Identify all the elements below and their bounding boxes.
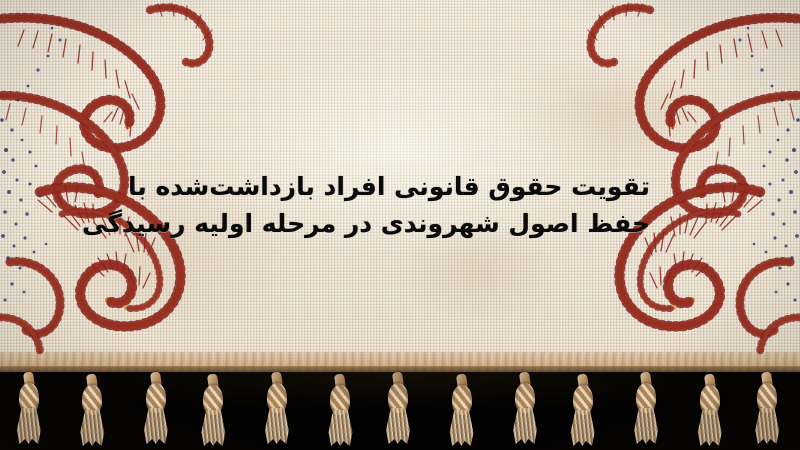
tassel-skirt — [449, 410, 475, 446]
tassel-skirt — [633, 408, 659, 444]
headline-line-1: تقویت حقوق قانونی افراد بازداشت‌شده با — [150, 168, 650, 205]
tassel-skirt — [754, 408, 780, 444]
tassel — [196, 374, 230, 448]
tassel — [508, 372, 542, 446]
headline-text: تقویت حقوق قانونی افراد بازداشت‌شده با ح… — [0, 168, 800, 242]
tassel-skirt — [327, 410, 353, 446]
tassel — [323, 374, 357, 448]
tassel — [75, 374, 109, 448]
tassel-skirt — [697, 410, 723, 446]
tassel-skirt — [570, 410, 596, 446]
tassel — [445, 374, 479, 448]
tassel-skirt — [79, 410, 105, 446]
tassel — [12, 372, 46, 446]
tassel — [260, 372, 294, 446]
tassel — [139, 372, 173, 446]
tassel — [693, 374, 727, 448]
tassel-skirt — [264, 408, 290, 444]
tassel-fringe-band — [0, 372, 800, 450]
headline-line-2: حفظ اصول شهروندی در مرحله اولیه رسیدگی — [150, 205, 650, 242]
tassel-skirt — [385, 408, 411, 444]
tassel — [566, 374, 600, 448]
tassel-skirt — [16, 408, 42, 444]
tassel — [750, 372, 784, 446]
tassel-skirt — [200, 410, 226, 446]
tassel — [629, 372, 663, 446]
banner-image: تقویت حقوق قانونی افراد بازداشت‌شده با ح… — [0, 0, 800, 450]
tassel-skirt — [143, 408, 169, 444]
tassel-skirt — [512, 408, 538, 444]
tassel — [381, 372, 415, 446]
